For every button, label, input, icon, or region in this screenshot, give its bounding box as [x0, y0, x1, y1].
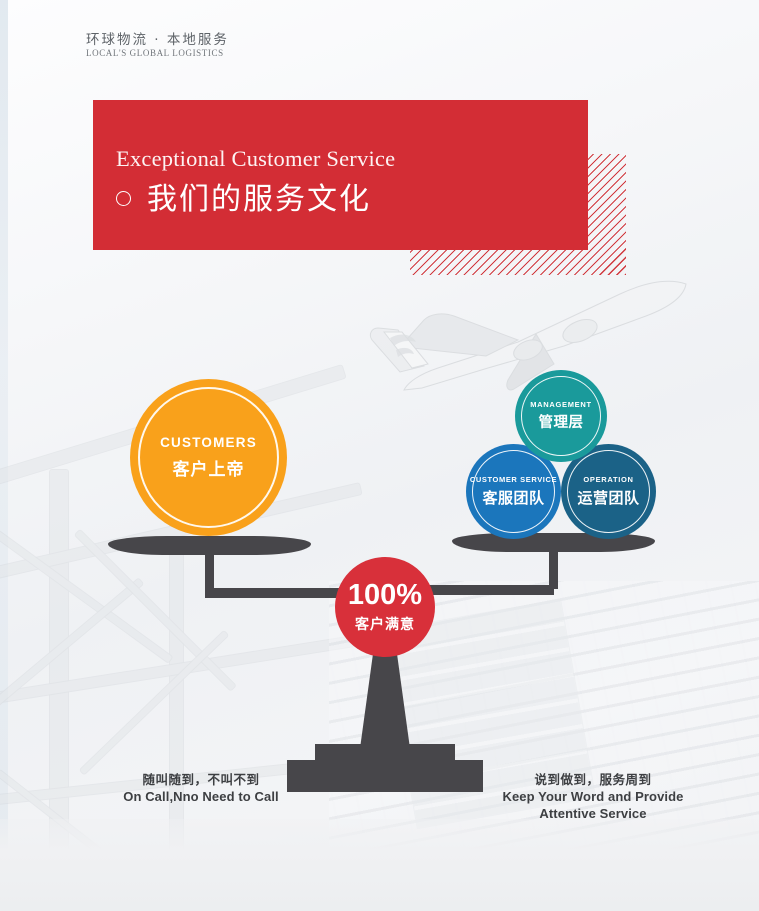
circle-management[interactable]: MANAGEMENT 管理层	[515, 370, 607, 462]
scale-stem-right	[549, 549, 558, 589]
circle-management-label-en: MANAGEMENT	[530, 400, 592, 409]
satisfaction-label-cn: 客户满意	[355, 614, 415, 634]
scale-stem-left	[205, 552, 214, 592]
circle-operation-label-en: OPERATION	[583, 475, 633, 484]
caption-left-cn: 随叫随到，不叫不到	[116, 772, 286, 788]
caption-right-en-line1: Keep Your Word and Provide	[493, 789, 693, 805]
caption-right-en-line2: Attentive Service	[493, 806, 693, 822]
circle-management-label-cn: 管理层	[539, 411, 584, 432]
circle-customers[interactable]: CUSTOMERS 客户上帝	[130, 379, 287, 536]
caption-left: 随叫随到，不叫不到 On Call,Nno Need to Call	[116, 772, 286, 805]
circle-operation-label-cn: 运营团队	[577, 487, 639, 508]
caption-right-cn: 说到做到，服务周到	[493, 772, 693, 788]
slide-canvas: 环球物流 · 本地服务 LOCAL'S GLOBAL LOGISTICS Exc…	[0, 0, 759, 911]
scale-pan-left	[108, 536, 311, 555]
circle-customers-label-cn: 客户上帝	[173, 455, 245, 480]
circle-satisfaction[interactable]: 100% 客户满意	[335, 557, 435, 657]
circle-customer-service-label-cn: 客服团队	[482, 487, 544, 508]
circle-customers-label-en: CUSTOMERS	[160, 435, 257, 450]
scale-base	[287, 760, 483, 792]
satisfaction-value: 100%	[348, 581, 422, 610]
circle-customer-service-label-en: CUSTOMER SERVICE	[470, 475, 557, 484]
caption-left-en: On Call,Nno Need to Call	[116, 789, 286, 805]
caption-right: 说到做到，服务周到 Keep Your Word and Provide Att…	[493, 772, 693, 822]
